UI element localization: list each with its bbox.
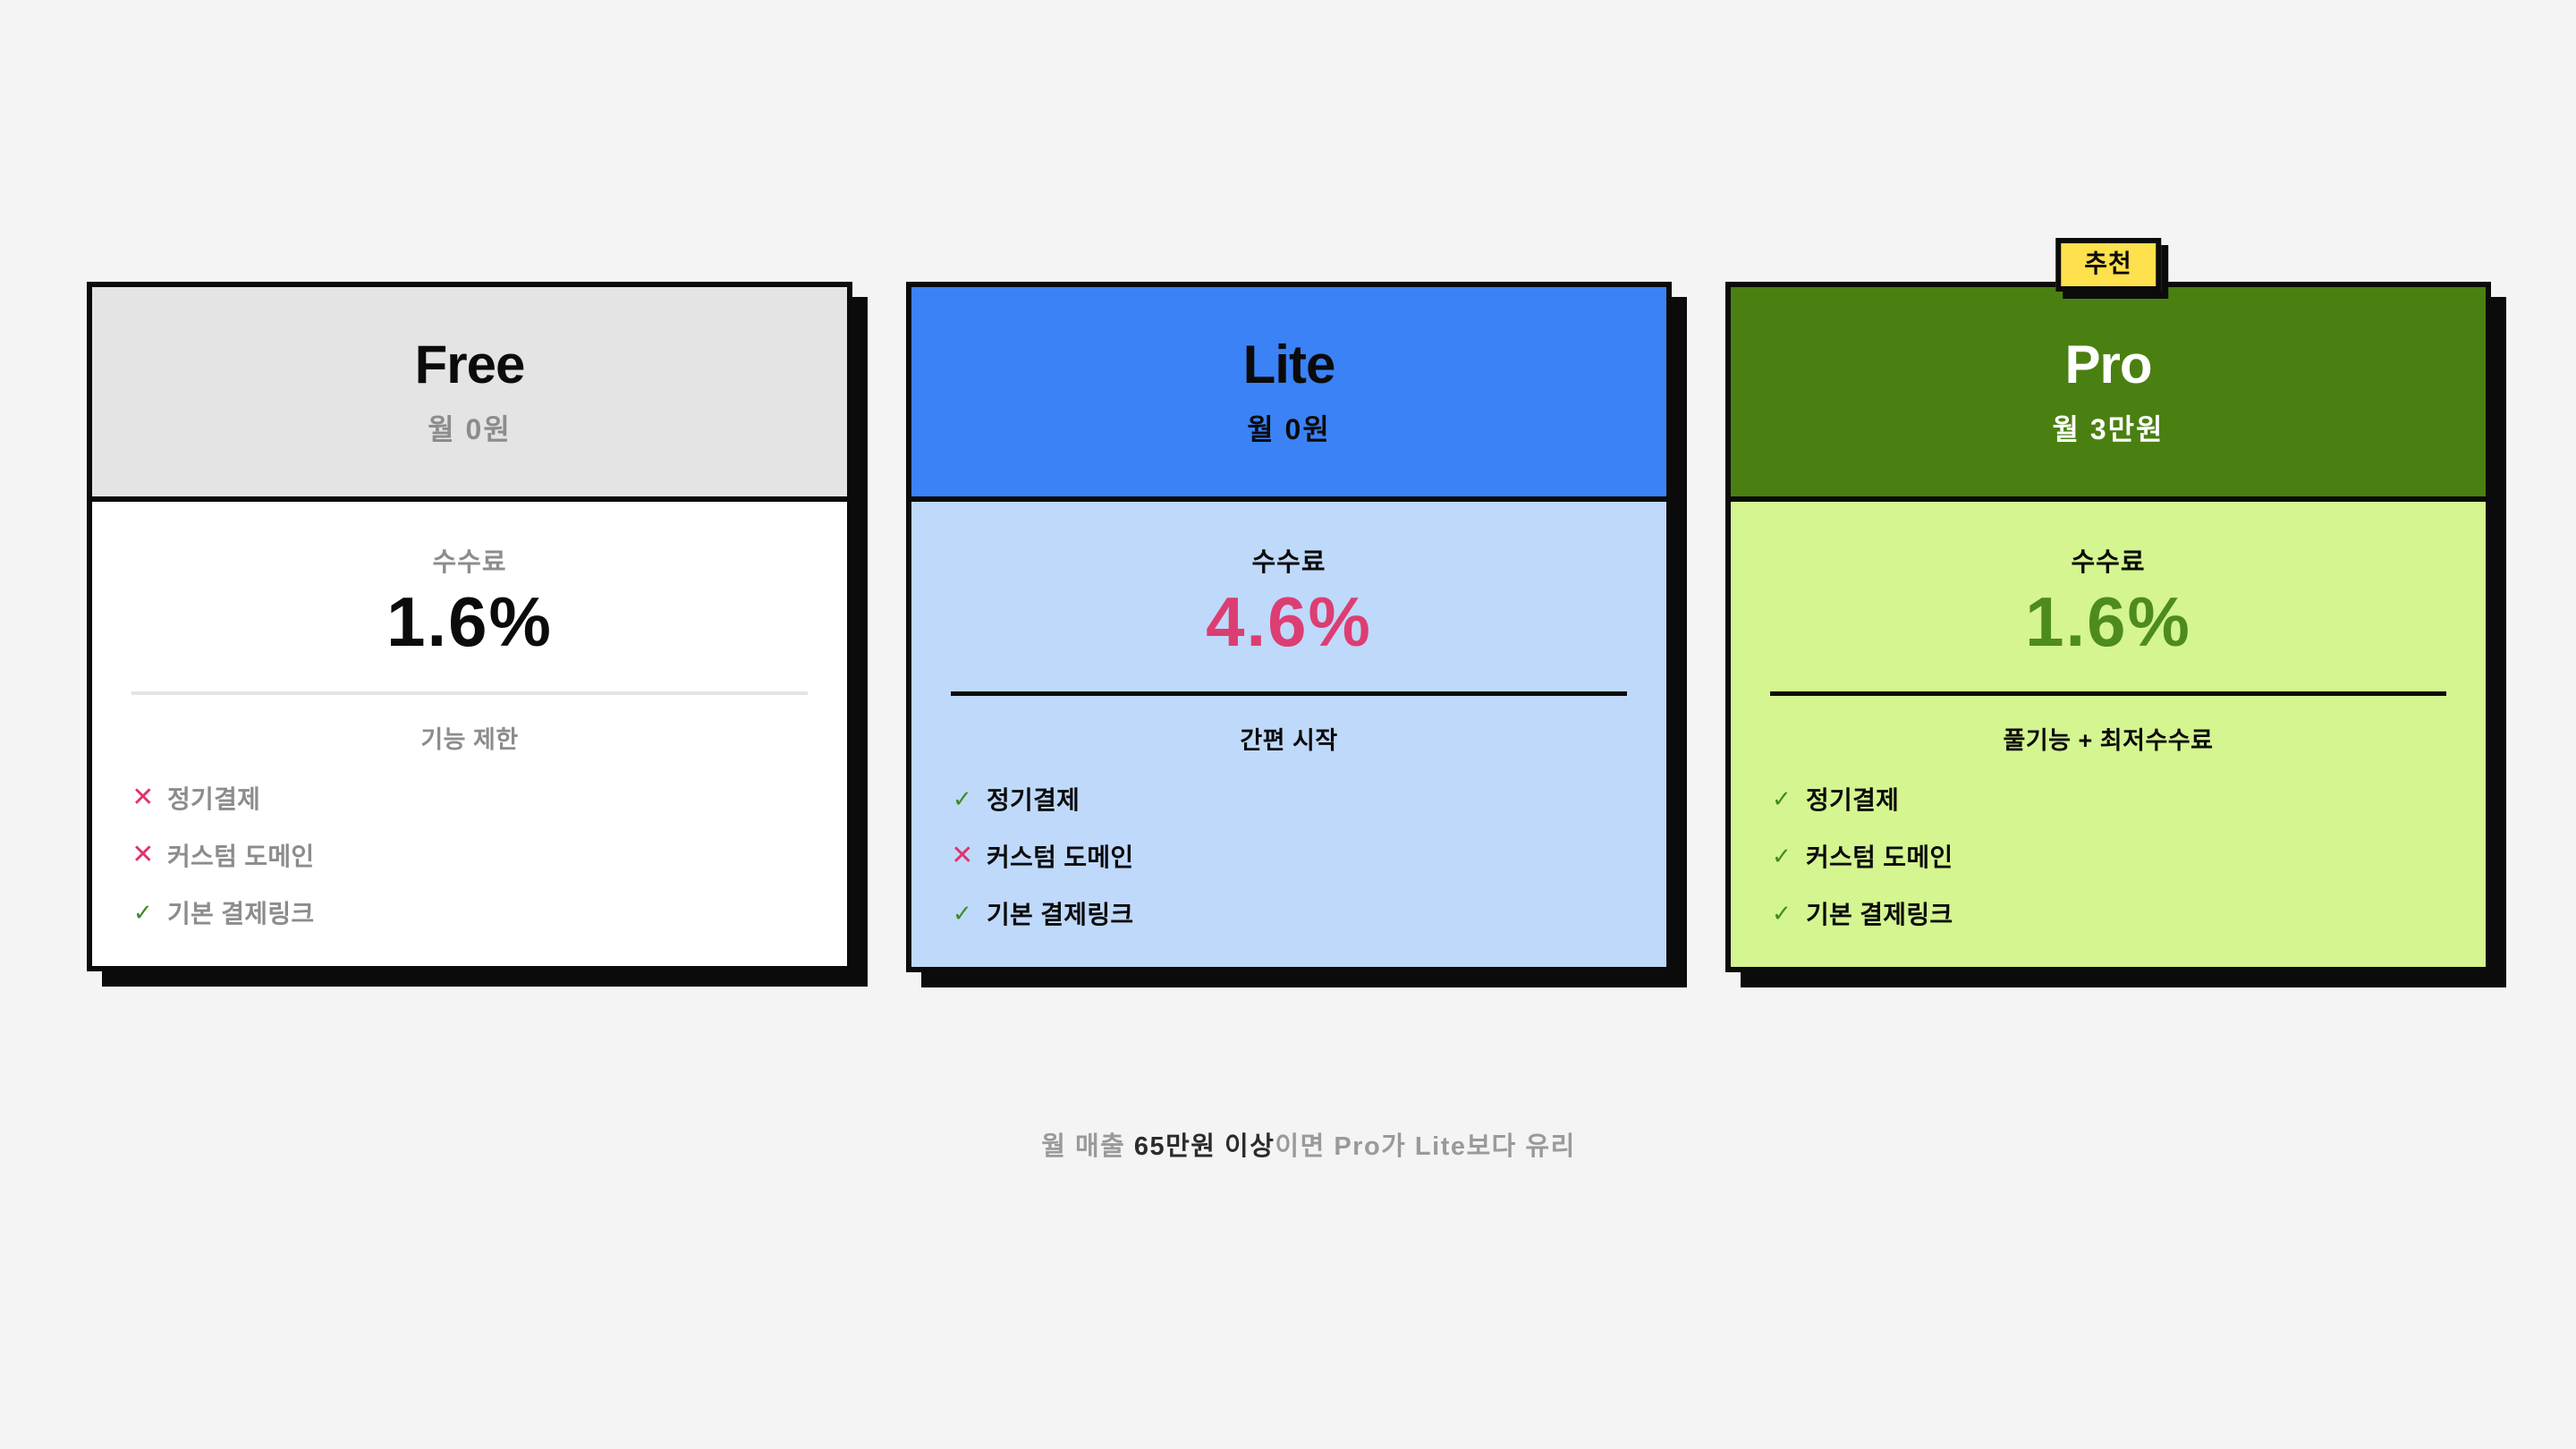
plan-card-pro[interactable]: 추천 Pro 월 3만원 수수료 1.6% 풀기능 + 최저수수료 ✓ 정기결제… xyxy=(1725,282,2491,972)
feature-label: 기본 결제링크 xyxy=(1806,895,1953,931)
plan-tagline-free: 기능 제한 xyxy=(131,720,808,755)
feature-item: ✓ 커스텀 도메인 xyxy=(1770,838,2446,874)
feature-label: 커스텀 도메인 xyxy=(1806,838,1953,874)
divider-lite xyxy=(951,691,1627,696)
feature-label: 정기결제 xyxy=(987,781,1080,817)
feature-label: 커스텀 도메인 xyxy=(987,838,1133,874)
check-icon: ✓ xyxy=(951,787,974,810)
plan-name-lite: Lite xyxy=(1243,336,1335,393)
feature-list-free: ✕ 정기결제 ✕ 커스텀 도메인 ✓ 기본 결제링크 xyxy=(131,780,808,930)
cross-icon: ✕ xyxy=(131,842,155,869)
fee-value-free: 1.6% xyxy=(131,584,808,661)
plan-header-pro: 추천 Pro 월 3만원 xyxy=(1731,287,2486,502)
feature-item: ✕ 커스텀 도메인 xyxy=(951,838,1627,874)
feature-item: ✓ 정기결제 xyxy=(951,781,1627,817)
fee-value-pro: 1.6% xyxy=(1770,584,2446,661)
feature-label: 정기결제 xyxy=(167,780,260,816)
plan-header-lite: Lite 월 0원 xyxy=(911,287,1666,502)
plan-price-lite: 월 0원 xyxy=(1247,407,1331,448)
feature-list-pro: ✓ 정기결제 ✓ 커스텀 도메인 ✓ 기본 결제링크 xyxy=(1770,781,2446,931)
plan-body-lite: 수수료 4.6% 간편 시작 ✓ 정기결제 ✕ 커스텀 도메인 ✓ 기본 결제링… xyxy=(911,502,1666,967)
feature-label: 기본 결제링크 xyxy=(987,895,1133,931)
fee-value-lite: 4.6% xyxy=(951,584,1627,661)
feature-item: ✕ 커스텀 도메인 xyxy=(131,837,808,873)
feature-item: ✓ 기본 결제링크 xyxy=(951,895,1627,931)
feature-label: 기본 결제링크 xyxy=(167,894,314,930)
plan-card-free[interactable]: Free 월 0원 수수료 1.6% 기능 제한 ✕ 정기결제 ✕ 커스텀 도메… xyxy=(87,282,852,971)
plan-header-free: Free 월 0원 xyxy=(92,287,847,502)
comparison-footnote: 월 매출 65만원 이상이면 Pro가 Lite보다 유리 xyxy=(906,1125,1711,1163)
feature-list-lite: ✓ 정기결제 ✕ 커스텀 도메인 ✓ 기본 결제링크 xyxy=(951,781,1627,931)
check-icon: ✓ xyxy=(951,902,974,925)
check-icon: ✓ xyxy=(131,901,155,924)
footnote-prefix: 월 매출 xyxy=(1041,1132,1134,1161)
recommended-badge: 추천 xyxy=(2055,238,2161,292)
footnote-suffix: 이면 Pro가 Lite보다 유리 xyxy=(1275,1132,1575,1161)
feature-item: ✕ 정기결제 xyxy=(131,780,808,816)
plan-price-pro: 월 3만원 xyxy=(2052,407,2164,448)
fee-label-lite: 수수료 xyxy=(951,541,1627,579)
pricing-comparison-screen: Free 월 0원 수수료 1.6% 기능 제한 ✕ 정기결제 ✕ 커스텀 도메… xyxy=(0,0,2576,1449)
check-icon: ✓ xyxy=(1770,902,1793,925)
cross-icon: ✕ xyxy=(951,843,974,869)
fee-label-pro: 수수료 xyxy=(1770,541,2446,579)
divider-pro xyxy=(1770,691,2446,696)
cross-icon: ✕ xyxy=(131,784,155,811)
plan-tagline-pro: 풀기능 + 최저수수료 xyxy=(1770,721,2446,756)
fee-label-free: 수수료 xyxy=(131,541,808,579)
plan-tagline-lite: 간편 시작 xyxy=(951,721,1627,756)
footnote-highlight: 65만원 이상 xyxy=(1134,1132,1275,1161)
check-icon: ✓ xyxy=(1770,844,1793,868)
plan-body-pro: 수수료 1.6% 풀기능 + 최저수수료 ✓ 정기결제 ✓ 커스텀 도메인 ✓ … xyxy=(1731,502,2486,967)
feature-item: ✓ 기본 결제링크 xyxy=(1770,895,2446,931)
plan-price-free: 월 0원 xyxy=(428,407,512,448)
divider-free xyxy=(131,691,808,695)
feature-item: ✓ 기본 결제링크 xyxy=(131,894,808,930)
plan-name-free: Free xyxy=(415,336,525,393)
plan-card-lite[interactable]: Lite 월 0원 수수료 4.6% 간편 시작 ✓ 정기결제 ✕ 커스텀 도메… xyxy=(906,282,1672,972)
feature-item: ✓ 정기결제 xyxy=(1770,781,2446,817)
plan-body-free: 수수료 1.6% 기능 제한 ✕ 정기결제 ✕ 커스텀 도메인 ✓ 기본 결제링… xyxy=(92,502,847,966)
feature-label: 정기결제 xyxy=(1806,781,1899,817)
feature-label: 커스텀 도메인 xyxy=(167,837,314,873)
check-icon: ✓ xyxy=(1770,787,1793,810)
plan-name-pro: Pro xyxy=(2064,336,2151,393)
